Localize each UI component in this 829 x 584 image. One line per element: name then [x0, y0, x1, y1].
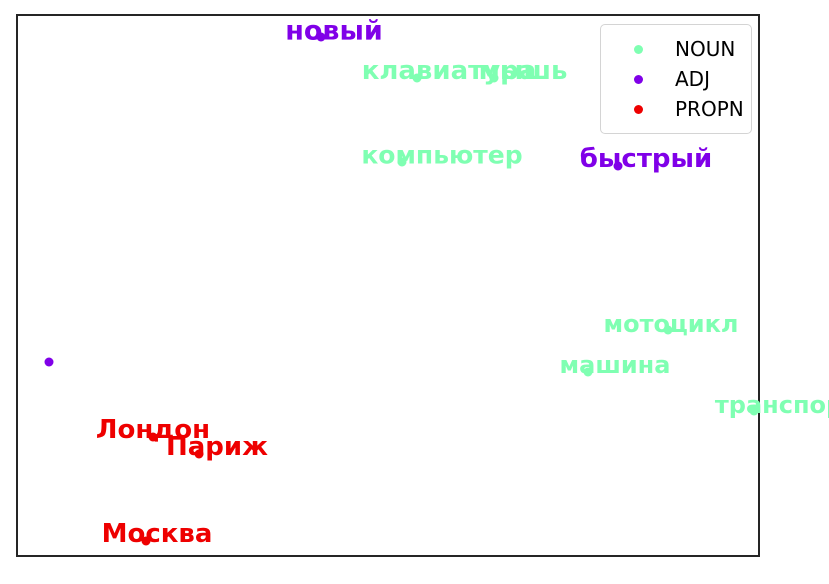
- legend-item-adj[interactable]: ADJ: [611, 64, 741, 94]
- word-label: Москва: [102, 521, 213, 547]
- word-label: мышь: [479, 58, 568, 84]
- word-label: мотоцикл: [604, 312, 739, 336]
- legend-box: NOUN ADJ PROPN: [600, 24, 752, 134]
- legend-marker-noun: [634, 45, 643, 54]
- legend-label-noun: NOUN: [675, 39, 735, 59]
- legend-item-noun[interactable]: NOUN: [611, 34, 741, 64]
- word-label: компьютер: [361, 143, 522, 168]
- word-label: машина: [560, 353, 671, 377]
- scatter-marker: [45, 358, 54, 367]
- legend-label-adj: ADJ: [675, 69, 710, 89]
- word-label: новый: [285, 18, 383, 45]
- figure-canvas: новыйклавиатурамышькомпьютербыстрыймотоц…: [0, 0, 829, 584]
- word-label: транспорт: [715, 393, 829, 417]
- word-label: Париж: [166, 434, 268, 460]
- legend-label-propn: PROPN: [675, 99, 744, 119]
- legend-marker-adj: [634, 75, 643, 84]
- word-label: быстрый: [580, 146, 713, 172]
- legend-item-propn[interactable]: PROPN: [611, 94, 741, 124]
- legend-marker-propn: [634, 105, 643, 114]
